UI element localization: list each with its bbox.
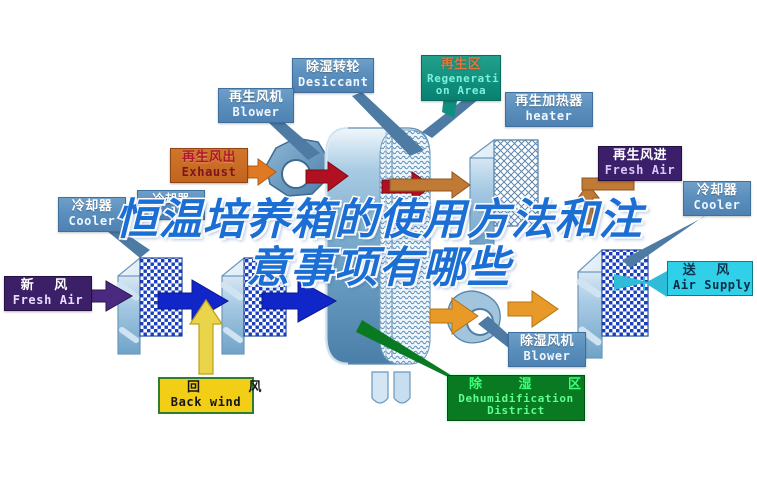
label-cn: 除湿转轮: [298, 61, 368, 76]
label-dehum-blower[interactable]: 除湿风机 Blower: [508, 332, 586, 367]
label-cn: 除 湿 区: [453, 378, 579, 393]
label-cn: 新 风: [10, 279, 86, 294]
regen-riser-arrow: [578, 178, 634, 224]
regen-blower-housing: [266, 138, 328, 196]
label-regen-heater[interactable]: 再生加热器 heater: [505, 92, 593, 127]
label-back-wind[interactable]: 回 风 Back wind: [158, 377, 254, 414]
label-cn: 冷却器: [143, 193, 199, 206]
label-en: Cooler: [689, 199, 745, 212]
label-cn: 再生风进: [604, 149, 676, 164]
diagram-canvas: 除湿转轮 Desiccant 再生风机 Blower 再生区 Regenerat…: [0, 0, 757, 488]
label-cooler-mid[interactable]: 冷却器 Cooler: [137, 190, 205, 220]
label-cooler-left[interactable]: 冷却器 Cooler: [58, 197, 126, 232]
label-en: Fresh Air: [604, 164, 676, 177]
label-en: Dehumidification District: [453, 393, 579, 418]
dry-air-arrow-2: [508, 291, 558, 327]
dehumidifier-schematic: [0, 0, 757, 488]
label-desiccant-wheel[interactable]: 除湿转轮 Desiccant: [292, 58, 374, 93]
label-regen-fresh-air[interactable]: 再生风进 Fresh Air: [598, 146, 682, 181]
label-en: Blower: [514, 350, 580, 363]
label-cn: 再生区: [427, 58, 495, 73]
label-en: Air Supply: [673, 279, 747, 292]
label-en: Blower: [224, 106, 288, 119]
label-en: Cooler: [143, 206, 199, 219]
label-en: Exhaust: [176, 166, 242, 179]
label-en: heater: [511, 110, 587, 123]
label-dehum-district[interactable]: 除 湿 区 Dehumidification District: [447, 375, 585, 421]
label-cn: 再生风机: [224, 91, 288, 106]
label-cn: 冷却器: [689, 184, 745, 199]
label-en: Fresh Air: [10, 294, 86, 307]
label-exhaust[interactable]: 再生风出 Exhaust: [170, 148, 248, 183]
label-air-supply[interactable]: 送 风 Air Supply: [667, 261, 753, 296]
label-cn: 冷却器: [64, 200, 120, 215]
cooler-coil-right: [578, 250, 648, 358]
label-cn: 送 风: [673, 264, 747, 279]
desiccant-rotor: [326, 128, 430, 403]
label-cn: 再生加热器: [511, 95, 587, 110]
label-en: Cooler: [64, 215, 120, 228]
label-cn: 除湿风机: [514, 335, 580, 350]
label-cn: 回 风: [165, 381, 247, 396]
label-en: Back wind: [165, 396, 247, 409]
label-en: Regenerati on Area: [427, 73, 495, 98]
label-regen-area[interactable]: 再生区 Regenerati on Area: [421, 55, 501, 101]
label-regen-blower[interactable]: 再生风机 Blower: [218, 88, 294, 123]
label-cooler-right[interactable]: 冷却器 Cooler: [683, 181, 751, 216]
label-en: Desiccant: [298, 76, 368, 89]
label-fresh-air[interactable]: 新 风 Fresh Air: [4, 276, 92, 311]
regen-heater-block: [470, 140, 538, 244]
label-cn: 再生风出: [176, 151, 242, 166]
